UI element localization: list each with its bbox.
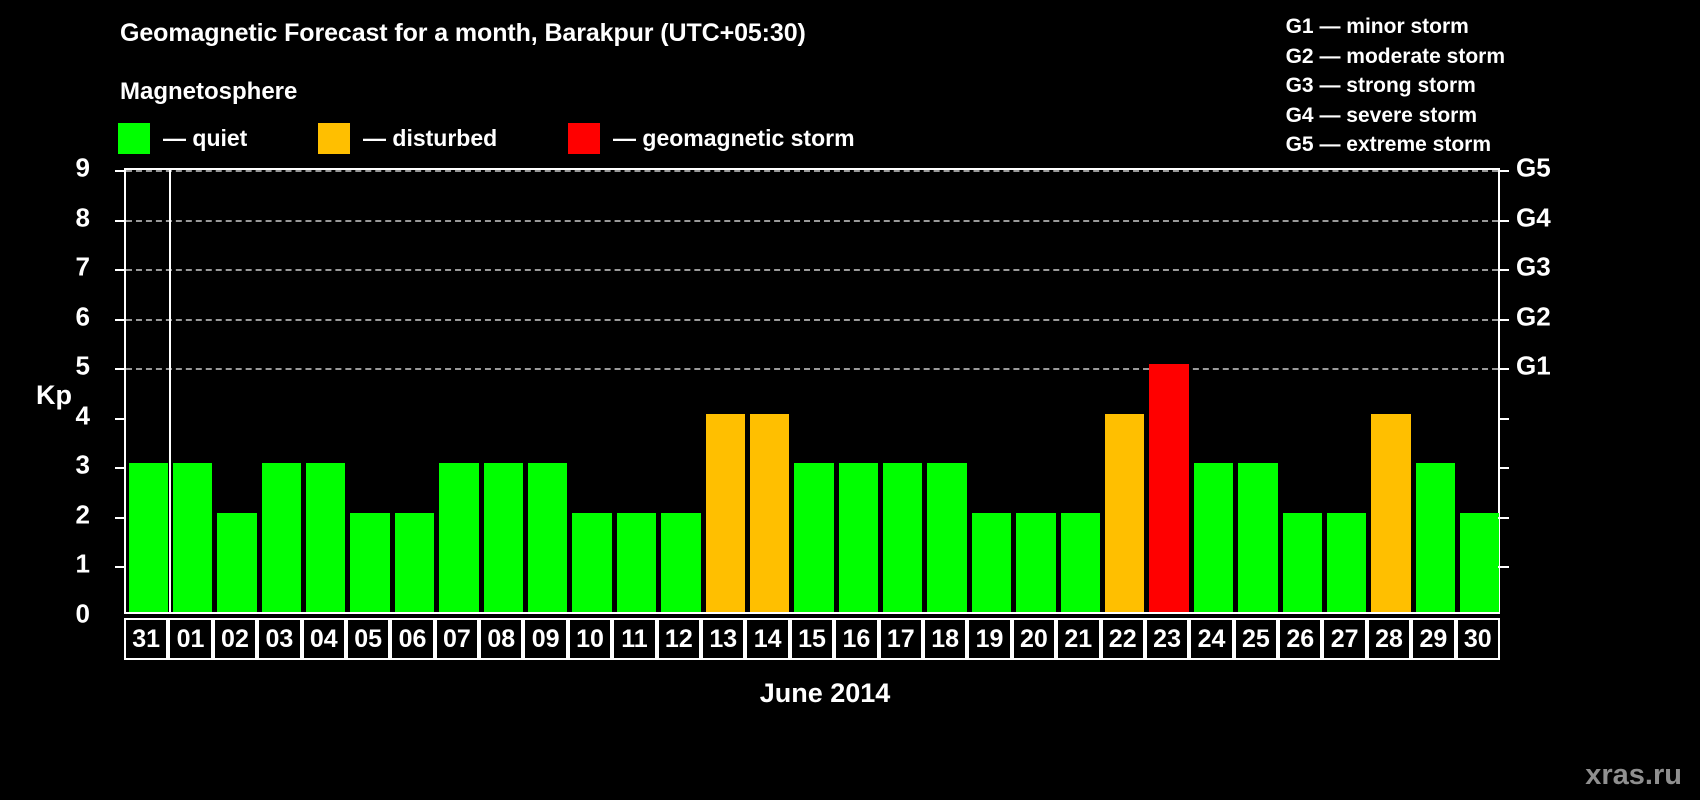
red-square-icon (568, 123, 600, 154)
x-axis-title: June 2014 (0, 678, 1700, 709)
bar-day-03[interactable] (262, 463, 301, 612)
y-tick-7: 7 (50, 252, 90, 283)
right-tick-mark-kp-5 (1498, 368, 1509, 370)
y-tick-0: 0 (50, 599, 90, 630)
bar-day-17[interactable] (883, 463, 922, 612)
g-scale-row-3: G3 — strong storm (1286, 71, 1505, 101)
legend-label-2: — geomagnetic storm (613, 125, 855, 152)
y-tick-3: 3 (50, 450, 90, 481)
x-axis-title-text: June 2014 (760, 678, 891, 709)
g-scale-row-1: G1 — minor storm (1286, 12, 1505, 42)
right-tick-mark-kp-7 (1498, 269, 1509, 271)
bar-day-02[interactable] (217, 513, 256, 612)
bar-day-25[interactable] (1238, 463, 1277, 612)
y-tick-mark-6 (115, 319, 126, 321)
bars-layer (126, 170, 1498, 612)
bar-day-28[interactable] (1371, 414, 1410, 612)
day-label-16[interactable]: 16 (834, 618, 878, 660)
bar-day-05[interactable] (350, 513, 389, 612)
legend-entry-2: — geomagnetic storm (568, 122, 855, 154)
day-label-28[interactable]: 28 (1367, 618, 1411, 660)
y-tick-9: 9 (50, 153, 90, 184)
magnetosphere-section-label: Magnetosphere (120, 78, 297, 106)
y-tick-8: 8 (50, 202, 90, 233)
right-tick-mark-kp-1 (1498, 566, 1509, 568)
y-tick-5: 5 (50, 351, 90, 382)
right-tick-mark-kp-9 (1498, 170, 1509, 172)
legend-entry-1: — disturbed (318, 122, 497, 154)
day-label-11[interactable]: 11 (612, 618, 656, 660)
bar-day-22[interactable] (1105, 414, 1144, 612)
bar-day-07[interactable] (439, 463, 478, 612)
chart-plot-area (124, 168, 1500, 614)
watermark: xras.ru (1585, 759, 1682, 792)
right-tick-mark-kp-6 (1498, 319, 1509, 321)
day-label-22[interactable]: 22 (1101, 618, 1145, 660)
day-label-15[interactable]: 15 (790, 618, 834, 660)
day-axis: 3101020304050607080910111213141516171819… (124, 618, 1500, 660)
g-tick-G5: G5 (1516, 153, 1551, 184)
bar-day-24[interactable] (1194, 463, 1233, 612)
y-axis-title: Kp (36, 380, 72, 411)
bar-day-18[interactable] (927, 463, 966, 612)
g-tick-G4: G4 (1516, 202, 1551, 233)
bar-day-19[interactable] (972, 513, 1011, 612)
day-label-20[interactable]: 20 (1012, 618, 1056, 660)
day-label-26[interactable]: 26 (1278, 618, 1322, 660)
bar-day-09[interactable] (528, 463, 567, 612)
bar-day-21[interactable] (1061, 513, 1100, 612)
bar-day-10[interactable] (572, 513, 611, 612)
g-tick-G3: G3 (1516, 252, 1551, 283)
y-tick-1: 1 (50, 549, 90, 580)
day-label-08[interactable]: 08 (479, 618, 523, 660)
day-label-13[interactable]: 13 (701, 618, 745, 660)
day-label-07[interactable]: 07 (435, 618, 479, 660)
y-tick-mark-3 (115, 467, 126, 469)
g-tick-G2: G2 (1516, 301, 1551, 332)
bar-day-06[interactable] (395, 513, 434, 612)
bar-day-01[interactable] (173, 463, 212, 612)
day-label-12[interactable]: 12 (657, 618, 701, 660)
legend-entry-0: — quiet (118, 122, 247, 154)
bar-day-20[interactable] (1016, 513, 1055, 612)
day-label-24[interactable]: 24 (1189, 618, 1233, 660)
right-tick-mark-kp-2 (1498, 517, 1509, 519)
y-tick-mark-5 (115, 368, 126, 370)
day-label-25[interactable]: 25 (1234, 618, 1278, 660)
g-scale-row-2: G2 — moderate storm (1286, 42, 1505, 72)
page-title: Geomagnetic Forecast for a month, Barakp… (120, 19, 806, 48)
bar-day-16[interactable] (839, 463, 878, 612)
y-tick-mark-1 (115, 566, 126, 568)
bar-day-27[interactable] (1327, 513, 1366, 612)
y-tick-mark-7 (115, 269, 126, 271)
bar-day-04[interactable] (306, 463, 345, 612)
bar-day-15[interactable] (794, 463, 833, 612)
day-label-31[interactable]: 31 (124, 618, 168, 660)
day-label-06[interactable]: 06 (390, 618, 434, 660)
bar-day-26[interactable] (1283, 513, 1322, 612)
day-label-19[interactable]: 19 (967, 618, 1011, 660)
day-label-27[interactable]: 27 (1322, 618, 1366, 660)
y-tick-mark-4 (115, 418, 126, 420)
day-label-05[interactable]: 05 (346, 618, 390, 660)
bar-day-29[interactable] (1416, 463, 1455, 612)
bar-day-23[interactable] (1149, 364, 1188, 612)
bar-day-31[interactable] (129, 463, 168, 612)
y-tick-mark-8 (115, 220, 126, 222)
g-scale-row-5: G5 — extreme storm (1286, 130, 1505, 160)
bar-day-14[interactable] (750, 414, 789, 612)
day-label-02[interactable]: 02 (213, 618, 257, 660)
day-label-30[interactable]: 30 (1456, 618, 1500, 660)
y-tick-mark-9 (115, 170, 126, 172)
orange-square-icon (318, 123, 350, 154)
bar-day-13[interactable] (706, 414, 745, 612)
day-label-03[interactable]: 03 (257, 618, 301, 660)
day-label-04[interactable]: 04 (302, 618, 346, 660)
bar-day-30[interactable] (1460, 513, 1499, 612)
day-label-18[interactable]: 18 (923, 618, 967, 660)
right-tick-mark-kp-3 (1498, 467, 1509, 469)
bar-day-12[interactable] (661, 513, 700, 612)
g-scale-legend: G1 — minor stormG2 — moderate stormG3 — … (1286, 12, 1505, 160)
legend-label-1: — disturbed (363, 125, 497, 152)
day-label-17[interactable]: 17 (879, 618, 923, 660)
legend-label-0: — quiet (163, 125, 247, 152)
y-tick-6: 6 (50, 301, 90, 332)
g-tick-G1: G1 (1516, 351, 1551, 382)
right-tick-mark-kp-8 (1498, 220, 1509, 222)
day-label-23[interactable]: 23 (1145, 618, 1189, 660)
bar-day-08[interactable] (484, 463, 523, 612)
bar-day-11[interactable] (617, 513, 656, 612)
g-scale-row-4: G4 — severe storm (1286, 101, 1505, 131)
y-tick-2: 2 (50, 499, 90, 530)
day-label-01[interactable]: 01 (168, 618, 212, 660)
day-label-10[interactable]: 10 (568, 618, 612, 660)
plot-inner (126, 170, 1498, 612)
day-label-21[interactable]: 21 (1056, 618, 1100, 660)
day-label-14[interactable]: 14 (745, 618, 789, 660)
day-label-09[interactable]: 09 (523, 618, 567, 660)
right-tick-mark-kp-4 (1498, 418, 1509, 420)
green-square-icon (118, 123, 150, 154)
y-tick-mark-2 (115, 517, 126, 519)
day-label-29[interactable]: 29 (1411, 618, 1455, 660)
